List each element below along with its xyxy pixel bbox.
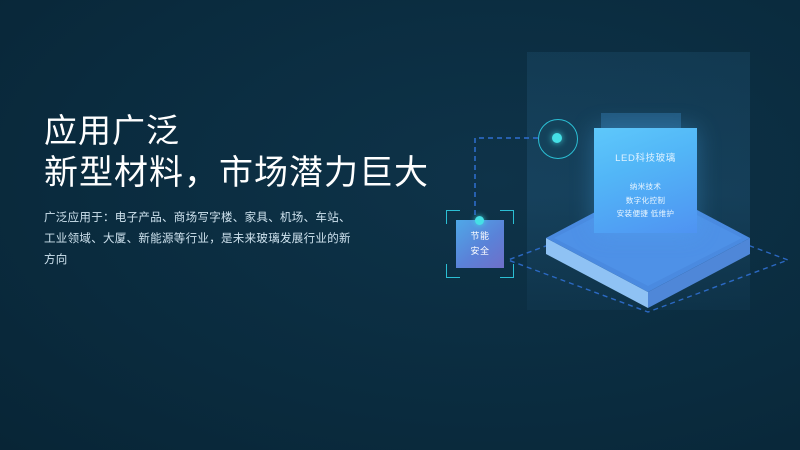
- text-block: 应用广泛 新型材料，市场潜力巨大 广泛应用于：电子产品、商场写字楼、家具、机场、…: [44, 110, 444, 271]
- tag-card: 节能 安全: [456, 220, 504, 268]
- tag-card-line-1: 节能: [456, 229, 504, 244]
- page-title-line-1: 应用广泛: [44, 110, 444, 152]
- tag-card-frame: 节能 安全: [444, 208, 516, 280]
- body-paragraph: 广泛应用于：电子产品、商场写字楼、家具、机场、车站、工业领域、大厦、新能源等行业…: [44, 208, 354, 271]
- circle-node-center-dot-icon: [552, 133, 562, 143]
- tag-card-anchor-dot-icon: [475, 216, 484, 225]
- page-title-line-2: 新型材料，市场潜力巨大: [44, 152, 444, 194]
- tag-card-line-2: 安全: [456, 244, 504, 259]
- slide-canvas: 应用广泛 新型材料，市场潜力巨大 广泛应用于：电子产品、商场写字楼、家具、机场、…: [0, 0, 800, 450]
